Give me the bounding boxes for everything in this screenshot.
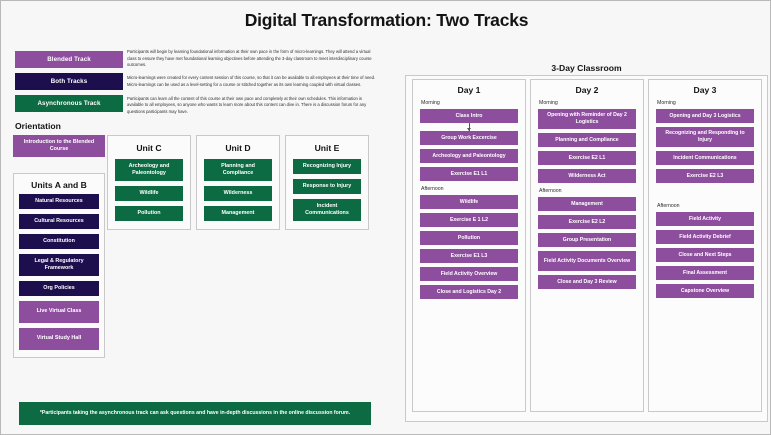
- node-label: Incident Communications: [296, 203, 358, 218]
- unit-d-node-management[interactable]: Management: [204, 206, 272, 221]
- day-2-afternoon-item-group-presentation[interactable]: Group Presentation: [538, 233, 636, 247]
- node-label: Wildlife: [139, 190, 158, 197]
- day-2-afternoon-label: Afternoon: [539, 188, 636, 194]
- day-2-title: Day 2: [538, 85, 636, 95]
- classroom-section-title: 3-Day Classroom: [404, 63, 769, 73]
- orientation-node-intro[interactable]: Introduction to the Blended Course: [13, 135, 105, 157]
- day-2-morning-item-exercise-e2-l1[interactable]: Exercise E2 L1: [538, 151, 636, 165]
- units-ab-title: Units A and B: [19, 180, 99, 190]
- day-2-afternoon-item-close-and-day-3-review[interactable]: Close and Day 3 Review: [538, 275, 636, 289]
- orientation-title: Orientation: [13, 121, 105, 131]
- node-label: Recognizing Injury: [303, 163, 351, 170]
- unit-d-node-planning-compliance[interactable]: Planning and Compliance: [204, 159, 272, 181]
- node-label: Management: [571, 201, 603, 208]
- unit-c-node-pollution[interactable]: Pollution: [115, 206, 183, 221]
- day-2-afternoon-item-field-activity-documents-overview[interactable]: Field Activity Documents Overview: [538, 251, 636, 271]
- day-2-morning-item-opening-with-reminder-of-day-2-logistics[interactable]: Opening with Reminder of Day 2 Logistics: [538, 109, 636, 129]
- day-3-morning-item-incident-communications[interactable]: Incident Communications: [656, 151, 754, 165]
- day-1-afternoon-item-field-activity-overview[interactable]: Field Activity Overview: [420, 267, 518, 281]
- day-1-morning-label: Morning: [421, 100, 518, 106]
- unit-ab-node-cultural-resources[interactable]: Cultural Resources: [19, 214, 99, 229]
- day-1-morning-item-class-intro[interactable]: Class Intro: [420, 109, 518, 123]
- day-2-morning-item-wilderness-act[interactable]: Wilderness Act: [538, 169, 636, 183]
- unit-e-node-recognizing-injury[interactable]: Recognizing Injury: [293, 159, 361, 174]
- node-label: Field Activity Documents Overview: [544, 258, 630, 265]
- unit-d-box: Unit D Planning and Compliance Wildernes…: [196, 135, 280, 230]
- node-label: Close and Next Steps: [678, 252, 731, 259]
- node-label: Cultural Resources: [34, 218, 83, 225]
- day-3-title: Day 3: [656, 85, 754, 95]
- node-label: Archeology and Paleontology: [118, 163, 180, 178]
- node-label: Recognizing and Responding to Injury: [659, 130, 751, 144]
- unit-e-title: Unit E: [293, 143, 361, 153]
- legend-descriptions: Participants will begin by learning foun…: [127, 49, 377, 122]
- node-label: Exercise E2 L2: [569, 219, 606, 226]
- node-label: Field Activity: [689, 216, 721, 223]
- node-label: Exercise E1 L1: [451, 171, 488, 178]
- node-label: Live Virtual Class: [37, 308, 82, 315]
- node-label: Close and Logistics Day 2: [437, 289, 501, 296]
- node-label: Constitution: [43, 238, 75, 245]
- node-label: Archeology and Paleontology: [432, 153, 505, 160]
- slide-canvas: Digital Transformation: Two Tracks Blend…: [0, 0, 771, 435]
- node-label: Management: [222, 210, 255, 217]
- track-legend: Blended Track Both Tracks Asynchronous T…: [15, 51, 123, 117]
- day-1-afternoon-item-close-and-logistics-day-2[interactable]: Close and Logistics Day 2: [420, 285, 518, 299]
- day-2-afternoon-item-exercise-e2-l2[interactable]: Exercise E2 L2: [538, 215, 636, 229]
- day-1-afternoon-item-wildlife[interactable]: Wildlife: [420, 195, 518, 209]
- day-3-column: Day 3 Morning Opening and Day 3 Logistic…: [648, 79, 762, 412]
- node-label: Opening and Day 3 Logistics: [669, 113, 740, 120]
- day-3-morning-item-opening-and-day-3-logistics[interactable]: Opening and Day 3 Logistics: [656, 109, 754, 123]
- day-3-morning-item-recognizing-and-responding-to-injury[interactable]: Recognizing and Responding to Injury: [656, 127, 754, 147]
- page-title: Digital Transformation: Two Tracks: [1, 10, 771, 31]
- node-label: Planning and Compliance: [555, 137, 618, 144]
- unit-e-node-incident-communications[interactable]: Incident Communications: [293, 199, 361, 221]
- node-label: Exercise E1 L3: [451, 253, 488, 260]
- unit-c-box: Unit C Archeology and Paleontology Wildl…: [107, 135, 191, 230]
- legend-item-both-tracks: Both Tracks: [15, 73, 123, 90]
- day-3-afternoon-label: Afternoon: [657, 203, 754, 209]
- node-label: Exercise E 1 L2: [450, 217, 488, 224]
- node-label: Legal & Regulatory Framework: [22, 258, 96, 273]
- unit-c-title: Unit C: [115, 143, 183, 153]
- unit-c-node-archeology-paleontology[interactable]: Archeology and Paleontology: [115, 159, 183, 181]
- legend-label: Asynchronous Track: [37, 100, 100, 107]
- unit-ab-node-natural-resources[interactable]: Natural Resources: [19, 194, 99, 209]
- day-1-afternoon-item-exercise-e1-l3[interactable]: Exercise E1 L3: [420, 249, 518, 263]
- day-3-afternoon-item-field-activity-debrief[interactable]: Field Activity Debrief: [656, 230, 754, 244]
- unit-ab-node-legal-regulatory-framework[interactable]: Legal & Regulatory Framework: [19, 254, 99, 276]
- node-label: Opening with Reminder of Day 2 Logistics: [541, 112, 633, 126]
- day-1-column: Day 1 Morning Class Intro Group Work Exc…: [412, 79, 526, 412]
- node-label: Field Activity Debrief: [679, 234, 730, 241]
- node-label: Introduction to the Blended Course: [16, 139, 102, 154]
- unit-e-node-response-to-injury[interactable]: Response to Injury: [293, 179, 361, 194]
- day-1-morning-item-exercise-e1-l1[interactable]: Exercise E1 L1: [420, 167, 518, 181]
- day-3-afternoon-item-final-assessment[interactable]: Final Assessment: [656, 266, 754, 280]
- unit-ab-node-live-virtual-class[interactable]: Live Virtual Class: [19, 301, 99, 323]
- day-2-afternoon-item-management[interactable]: Management: [538, 197, 636, 211]
- legend-item-asynchronous-track: Asynchronous Track: [15, 95, 123, 112]
- legend-description-blended: Participants will begin by learning foun…: [127, 49, 377, 69]
- day-2-column: Day 2 Morning Opening with Reminder of D…: [530, 79, 644, 412]
- node-label: Field Activity Overview: [441, 271, 498, 278]
- day-1-afternoon-label: Afternoon: [421, 186, 518, 192]
- node-label: Pollution: [137, 210, 160, 217]
- legend-description-both: Micro-learnings were created for every c…: [127, 75, 377, 88]
- day-3-morning-label: Morning: [657, 100, 754, 106]
- node-label: Pollution: [458, 235, 480, 242]
- node-label: Group Work Excercise: [441, 135, 497, 142]
- day-2-morning-label: Morning: [539, 100, 636, 106]
- unit-d-node-wilderness[interactable]: Wilderness: [204, 186, 272, 201]
- node-label: Class Intro: [456, 113, 483, 120]
- legend-label: Both Tracks: [51, 78, 88, 85]
- day-1-morning-item-group-work-excercise[interactable]: Group Work Excercise: [420, 131, 518, 145]
- day-1-title: Day 1: [420, 85, 518, 95]
- node-label: Org Policies: [43, 285, 74, 292]
- node-label: Group Presentation: [563, 237, 611, 244]
- node-label: Wilderness: [224, 190, 253, 197]
- classroom-panel: Day 1 Morning Class Intro Group Work Exc…: [405, 75, 768, 422]
- node-label: Wilderness Act: [568, 173, 605, 180]
- node-label: Virtual Study Hall: [37, 335, 82, 342]
- unit-ab-node-virtual-study-hall[interactable]: Virtual Study Hall: [19, 328, 99, 350]
- unit-e-box: Unit E Recognizing Injury Response to In…: [285, 135, 369, 230]
- node-label: Exercise E2 L3: [687, 173, 724, 180]
- node-label: Capstone Overview: [681, 288, 729, 295]
- day-3-afternoon-item-field-activity[interactable]: Field Activity: [656, 212, 754, 226]
- footer-note: *Participants taking the asynchronous tr…: [19, 402, 371, 425]
- node-label: Incident Communications: [673, 155, 736, 162]
- day-3-afternoon-item-close-and-next-steps[interactable]: Close and Next Steps: [656, 248, 754, 262]
- day-1-afternoon-item-exercise-e1-l2[interactable]: Exercise E 1 L2: [420, 213, 518, 227]
- node-label: Planning and Compliance: [207, 163, 269, 178]
- legend-description-asynchronous: Participants can learn all the content o…: [127, 96, 377, 116]
- node-label: Close and Day 3 Review: [557, 279, 616, 286]
- unit-c-node-wildlife[interactable]: Wildlife: [115, 186, 183, 201]
- legend-item-blended-track: Blended Track: [15, 51, 123, 68]
- orientation-group: Orientation Introduction to the Blended …: [13, 121, 105, 162]
- day-2-morning-item-planning-and-compliance[interactable]: Planning and Compliance: [538, 133, 636, 147]
- unit-ab-node-constitution[interactable]: Constitution: [19, 234, 99, 249]
- unit-d-title: Unit D: [204, 143, 272, 153]
- day-1-afternoon-item-pollution[interactable]: Pollution: [420, 231, 518, 245]
- footer-note-text: *Participants taking the asynchronous tr…: [40, 410, 350, 418]
- day-1-morning-item-archeology-and-paleontology[interactable]: Archeology and Paleontology: [420, 149, 518, 163]
- node-label: Final Assessment: [683, 270, 727, 277]
- legend-label: Blended Track: [47, 56, 91, 63]
- node-label: Response to Injury: [303, 183, 352, 190]
- node-label: Wildlife: [460, 199, 478, 206]
- day-3-afternoon-item-capstone-overview[interactable]: Capstone Overview: [656, 284, 754, 298]
- node-label: Natural Resources: [35, 198, 83, 205]
- unit-ab-node-org-policies[interactable]: Org Policies: [19, 281, 99, 296]
- node-label: Exercise E2 L1: [569, 155, 606, 162]
- units-ab-group: Units A and B Natural Resources Cultural…: [13, 173, 105, 358]
- arrow-down-icon: [469, 123, 470, 131]
- day-3-morning-item-exercise-e2-l3[interactable]: Exercise E2 L3: [656, 169, 754, 183]
